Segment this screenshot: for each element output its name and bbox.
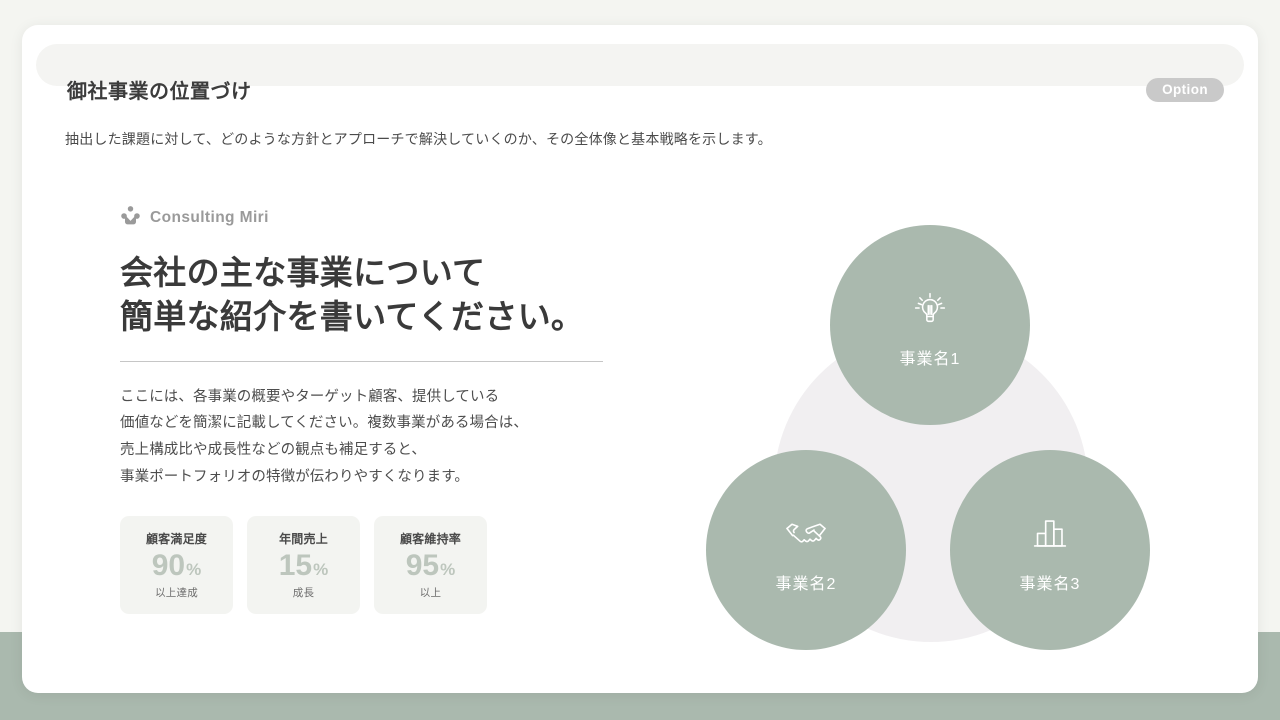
status-badge[interactable]: Option [1146, 78, 1224, 102]
business-diagram: 事業名1 事業名2 [682, 180, 1212, 640]
stat-number: 90 [152, 549, 185, 582]
left-content-column: Consulting Miri 会社の主な事業について 簡単な紹介を書いてくださ… [120, 205, 630, 614]
brand-row: Consulting Miri [120, 205, 630, 231]
diagram-node-label: 事業名1 [900, 345, 961, 369]
stat-unit: % [440, 561, 455, 580]
lightbulb-icon [907, 282, 953, 334]
stat-card: 顧客維持率 95 % 以上 [374, 516, 487, 614]
diagram-node-2[interactable]: 事業名2 [706, 450, 906, 650]
diagram-node-1[interactable]: 事業名1 [830, 225, 1030, 425]
slide-card: 御社事業の位置づけ Option 抽出した課題に対して、どのような方針とアプロー… [22, 25, 1258, 693]
stat-value: 90 % [152, 549, 202, 582]
diagram-node-label: 事業名2 [776, 570, 837, 594]
bar-chart-icon [1027, 507, 1073, 559]
stat-number: 15 [279, 549, 312, 582]
stat-label: 顧客維持率 [400, 530, 461, 547]
headline: 会社の主な事業について 簡単な紹介を書いてください。 [120, 251, 630, 339]
divider [120, 361, 603, 362]
stat-card: 顧客満足度 90 % 以上達成 [120, 516, 233, 614]
stat-note: 以上達成 [155, 585, 198, 600]
stat-number: 95 [406, 549, 439, 582]
stat-unit: % [186, 561, 201, 580]
stat-label: 年間売上 [279, 530, 328, 547]
body-copy: ここには、各事業の概要やターゲット顧客、提供している 価値などを簡潔に記載してく… [120, 384, 630, 491]
page-title: 御社事業の位置づけ [67, 75, 252, 104]
stat-value: 15 % [279, 549, 329, 582]
diagram-node-label: 事業名3 [1020, 570, 1081, 594]
stat-note: 以上 [420, 585, 441, 600]
stat-card: 年間売上 15 % 成長 [247, 516, 360, 614]
stat-card-group: 顧客満足度 90 % 以上達成 年間売上 15 % 成長 顧客維持率 95 [120, 516, 630, 614]
handshake-icon [782, 507, 830, 559]
slide-subtitle: 抽出した課題に対して、どのような方針とアプローチで解決していくのか、その全体像と… [65, 129, 772, 149]
diagram-node-3[interactable]: 事業名3 [950, 450, 1150, 650]
brand-name: Consulting Miri [150, 209, 269, 227]
stat-value: 95 % [406, 549, 456, 582]
stat-note: 成長 [293, 585, 314, 600]
people-group-logo-icon [120, 205, 141, 231]
stat-unit: % [313, 561, 328, 580]
stat-label: 顧客満足度 [146, 530, 207, 547]
